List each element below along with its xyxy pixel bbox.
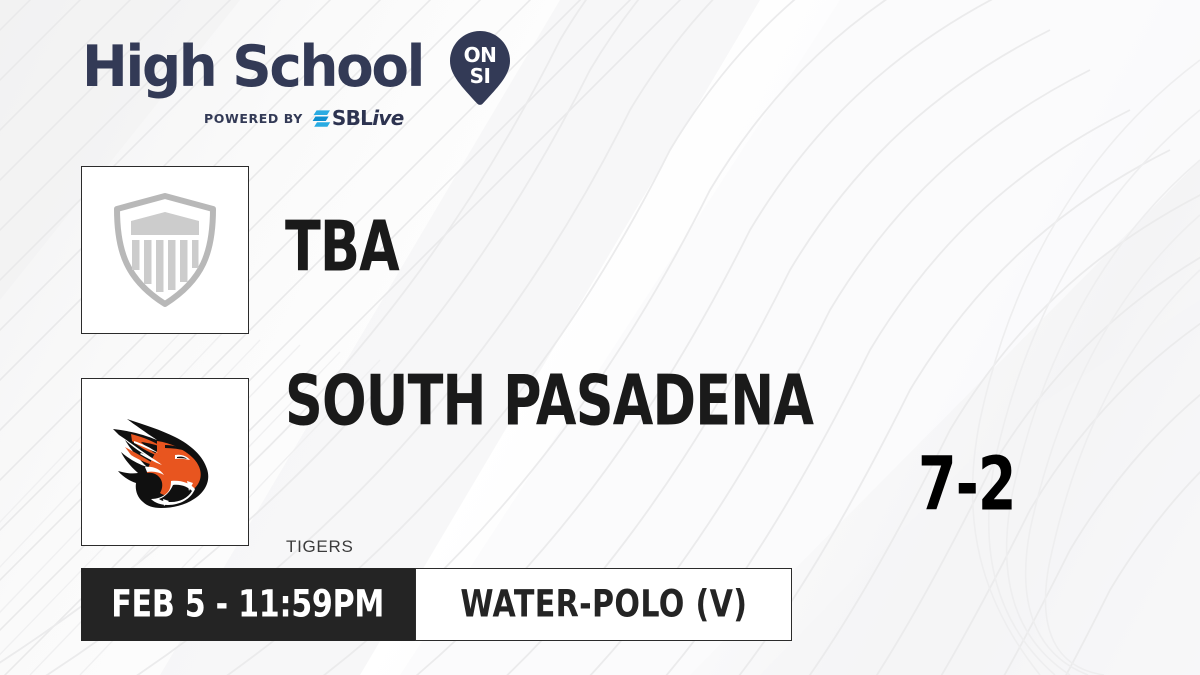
on-si-pin-icon: ON SI [449, 29, 511, 107]
game-datetime-label: FEB 5 - 11:59PM [112, 585, 385, 623]
team-logo-box-away [81, 166, 249, 334]
team-record-home: 7-2 [918, 448, 1016, 522]
sblive-word-main: SBL [332, 106, 372, 130]
game-sport-label: WATER-POLO (V) [460, 585, 747, 623]
powered-by-row: POWERED BY SBLive [204, 108, 512, 128]
sblive-wordmark: SBLive [332, 106, 404, 130]
game-matchup-graphic: High School ON SI POWERED BY SBLive [0, 0, 1200, 675]
team-name-away: TBA [285, 213, 399, 282]
team-mascot-home: TIGERS [286, 537, 354, 557]
game-info-bar: FEB 5 - 11:59PM WATER-POLO (V) [81, 568, 792, 641]
brand-logo: High School ON SI POWERED BY SBLive [82, 34, 512, 134]
sblive-logo: SBLive [312, 106, 404, 130]
team-logo-box-home [81, 378, 249, 546]
sblive-word-italic: ive [372, 106, 403, 130]
game-datetime-panel: FEB 5 - 11:59PM [81, 568, 415, 641]
powered-by-label: POWERED BY [204, 111, 303, 126]
sblive-s-icon [312, 109, 331, 128]
shield-placeholder-icon [111, 192, 219, 308]
brand-title: High School [82, 38, 423, 96]
team-name-home: SOUTH PASADENA [285, 367, 813, 436]
tiger-head-icon [101, 407, 229, 517]
game-sport-panel: WATER-POLO (V) [415, 568, 792, 641]
brand-title-row: High School ON SI [82, 34, 512, 100]
pin-label-si: SI [470, 64, 491, 88]
